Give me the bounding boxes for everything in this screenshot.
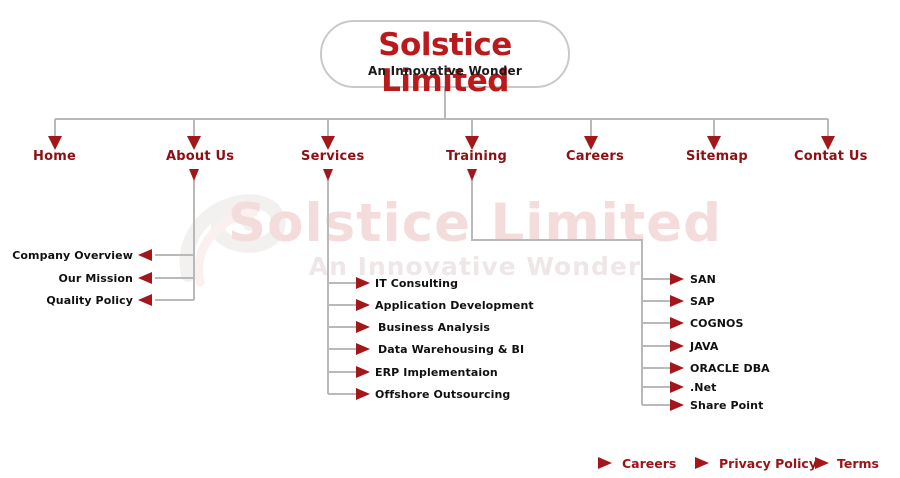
submenu-item-erp-implementation[interactable]: ERP Implementaion [375,366,498,379]
nav-item-contact-us[interactable]: Contat Us [794,149,868,164]
page-tagline: An Innovative Wonder [320,64,570,78]
submenu-item-application-development[interactable]: Application Development [375,299,534,312]
page-title: Solstice Limited [320,27,570,99]
submenu-item-quality-policy[interactable]: Quality Policy [0,294,133,307]
submenu-item-offshore-outsourcing[interactable]: Offshore Outsourcing [375,388,510,401]
nav-item-training[interactable]: Training [446,149,507,164]
submenu-item-share-point[interactable]: Share Point [690,399,763,412]
nav-item-home[interactable]: Home [33,149,76,164]
footer-link-privacy-policy[interactable]: Privacy Policy [719,456,817,471]
submenu-item-java[interactable]: JAVA [690,340,719,353]
submenu-item-sap[interactable]: SAP [690,295,715,308]
footer-link-careers[interactable]: Careers [622,456,676,471]
submenu-item-it-consulting[interactable]: IT Consulting [375,277,458,290]
submenu-item-data-warehousing-bi[interactable]: Data Warehousing & BI [378,343,524,356]
nav-item-careers[interactable]: Careers [566,149,624,164]
sitemap-diagram: Solstice Limited An Innovative Wonder [0,0,900,478]
submenu-item-oracle-dba[interactable]: ORACLE DBA [690,362,770,375]
submenu-item-company-overview[interactable]: Company Overview [0,249,133,262]
submenu-item-cognos[interactable]: COGNOS [690,317,744,330]
nav-item-about-us[interactable]: About Us [166,149,234,164]
submenu-item-business-analysis[interactable]: Business Analysis [378,321,490,334]
nav-item-services[interactable]: Services [301,149,364,164]
submenu-item-our-mission[interactable]: Our Mission [0,272,133,285]
submenu-item-dotnet[interactable]: .Net [690,381,717,394]
nav-item-sitemap[interactable]: Sitemap [686,149,748,164]
footer-link-terms[interactable]: Terms [837,456,879,471]
submenu-item-san[interactable]: SAN [690,273,716,286]
